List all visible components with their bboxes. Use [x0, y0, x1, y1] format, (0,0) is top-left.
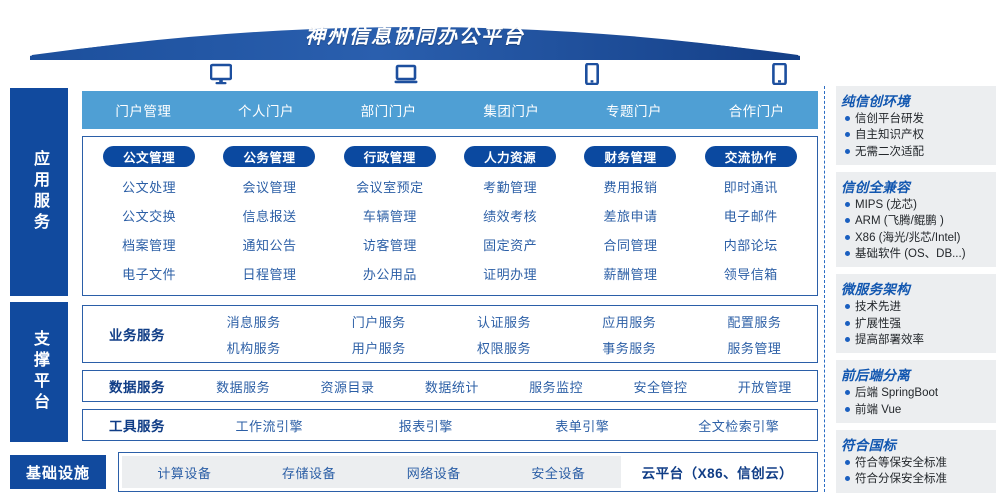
- app-item-0-3[interactable]: 电子文件: [122, 264, 176, 283]
- bullet-icon: [845, 149, 850, 154]
- sidebar-item-0-0: 信创平台研发: [841, 111, 991, 127]
- infra-item-2[interactable]: 网络设备: [371, 456, 496, 488]
- sidebar-item-3-0: 后端 SpringBoot: [841, 385, 991, 401]
- app-item-5-0[interactable]: 即时通讯: [724, 177, 778, 196]
- layer-label-application: 应用服务: [10, 88, 68, 296]
- app-item-2-2[interactable]: 访客管理: [363, 235, 417, 254]
- device-icon-strip: [82, 60, 818, 90]
- app-item-1-3[interactable]: 日程管理: [242, 264, 296, 283]
- sidebar-item-3-1: 前端 Vue: [841, 402, 991, 418]
- business-item-1-2[interactable]: 权限服务: [441, 338, 566, 357]
- portal-item-2[interactable]: 部门门户: [327, 100, 450, 120]
- portal-item-5[interactable]: 合作门户: [695, 100, 818, 120]
- header-banner: 神州信息协同办公平台: [0, 4, 830, 60]
- support-row-label-tool: 工具服务: [83, 415, 191, 435]
- infra-item-3[interactable]: 安全设备: [496, 456, 621, 488]
- data-item-3[interactable]: 服务监控: [504, 377, 608, 396]
- sidebar-section-0: 纯信创环境 信创平台研发 自主知识产权 无需二次适配: [836, 86, 996, 165]
- sidebar-item-1-3: 基础软件 (OS、DB...): [841, 246, 991, 262]
- app-item-3-1[interactable]: 绩效考核: [483, 206, 537, 225]
- bullet-icon: [845, 476, 850, 481]
- data-item-0[interactable]: 数据服务: [191, 377, 295, 396]
- laptop-icon: [394, 63, 418, 90]
- layer-label-support: 支撑平台: [10, 302, 68, 442]
- app-item-3-3[interactable]: 证明办理: [483, 264, 537, 283]
- application-services-panel: 公文管理 公文处理 公文交换 档案管理 电子文件 公务管理 会议管理 信息报送 …: [82, 136, 818, 296]
- business-item-1-3[interactable]: 事务服务: [567, 338, 692, 357]
- business-item-0-4[interactable]: 配置服务: [692, 312, 817, 331]
- layer-label-infrastructure: 基础设施: [10, 455, 106, 489]
- sidebar-item-label: X86 (海光/兆芯/Intel): [855, 230, 960, 246]
- bullet-icon: [845, 407, 850, 412]
- sidebar-item-label: 信创平台研发: [855, 111, 924, 127]
- sidebar-section-title-2: 微服务架构: [841, 278, 991, 298]
- support-row-label-data: 数据服务: [83, 376, 191, 396]
- app-item-2-0[interactable]: 会议室预定: [356, 177, 424, 196]
- tool-item-0[interactable]: 工作流引擎: [191, 416, 348, 435]
- app-item-5-1[interactable]: 电子邮件: [724, 206, 778, 225]
- sidebar-item-label: 扩展性强: [855, 316, 901, 332]
- sidebar-item-1-0: MIPS (龙芯): [841, 197, 991, 213]
- business-item-0-3[interactable]: 应用服务: [567, 312, 692, 331]
- app-item-1-2[interactable]: 通知公告: [242, 235, 296, 254]
- tool-item-3[interactable]: 全文检索引擎: [661, 416, 818, 435]
- app-category-title-5[interactable]: 交流协作: [705, 146, 797, 167]
- infra-item-0[interactable]: 计算设备: [122, 456, 247, 488]
- bullet-icon: [845, 460, 850, 465]
- sidebar-item-label: 提高部署效率: [855, 332, 924, 348]
- bullet-icon: [845, 337, 850, 342]
- app-column-0: 公文管理 公文处理 公文交换 档案管理 电子文件: [89, 146, 209, 289]
- app-category-title-1[interactable]: 公务管理: [223, 146, 315, 167]
- app-item-1-0[interactable]: 会议管理: [242, 177, 296, 196]
- data-service-cells: 数据服务 资源目录 数据统计 服务监控 安全管控 开放管理: [191, 377, 817, 396]
- app-column-2: 行政管理 会议室预定 车辆管理 访客管理 办公用品: [330, 146, 450, 289]
- infra-item-cloud-platform[interactable]: 云平台（X86、信创云）: [621, 456, 814, 488]
- bullet-icon: [845, 321, 850, 326]
- sidebar-item-label: 前端 Vue: [855, 402, 901, 418]
- feature-sidebar: 纯信创环境 信创平台研发 自主知识产权 无需二次适配 信创全兼容 MIPS (龙…: [836, 86, 996, 500]
- app-item-4-1[interactable]: 差旅申请: [603, 206, 657, 225]
- app-item-2-1[interactable]: 车辆管理: [363, 206, 417, 225]
- sidebar-section-title-4: 符合国标: [841, 434, 991, 454]
- app-item-5-3[interactable]: 领导信箱: [724, 264, 778, 283]
- sidebar-section-1: 信创全兼容 MIPS (龙芯) ARM (飞腾/鲲鹏 ) X86 (海光/兆芯/…: [836, 172, 996, 267]
- business-item-1-0[interactable]: 机构服务: [191, 338, 316, 357]
- sidebar-item-label: 后端 SpringBoot: [855, 385, 938, 401]
- app-item-0-2[interactable]: 档案管理: [122, 235, 176, 254]
- sidebar-item-2-2: 提高部署效率: [841, 332, 991, 348]
- business-service-grid: 消息服务 门户服务 认证服务 应用服务 配置服务 机构服务 用户服务 权限服务 …: [191, 312, 817, 357]
- portal-item-0[interactable]: 门户管理: [82, 100, 205, 120]
- tablet-icon: [772, 63, 787, 90]
- business-item-0-2[interactable]: 认证服务: [441, 312, 566, 331]
- page-title: 神州信息协同办公平台: [0, 20, 830, 49]
- business-service-row-2: 机构服务 用户服务 权限服务 事务服务 服务管理: [191, 338, 817, 357]
- app-item-0-1[interactable]: 公文交换: [122, 206, 176, 225]
- desktop-monitor-icon: [210, 63, 232, 90]
- sidebar-item-label: MIPS (龙芯): [855, 197, 917, 213]
- sidebar-section-4: 符合国标 符合等保安全标准 符合分保安全标准: [836, 430, 996, 493]
- app-category-title-0[interactable]: 公文管理: [103, 146, 195, 167]
- app-column-3: 人力资源 考勤管理 绩效考核 固定资产 证明办理: [450, 146, 570, 289]
- sidebar-item-label: 基础软件 (OS、DB...): [855, 246, 966, 262]
- business-item-0-1[interactable]: 门户服务: [316, 312, 441, 331]
- data-item-2[interactable]: 数据统计: [400, 377, 504, 396]
- infra-item-1[interactable]: 存储设备: [247, 456, 372, 488]
- app-column-5: 交流协作 即时通讯 电子邮件 内部论坛 领导信箱: [691, 146, 811, 289]
- sidebar-item-2-0: 技术先进: [841, 299, 991, 315]
- business-item-0-0[interactable]: 消息服务: [191, 312, 316, 331]
- sidebar-item-2-1: 扩展性强: [841, 316, 991, 332]
- app-item-1-1[interactable]: 信息报送: [242, 206, 296, 225]
- portal-item-4[interactable]: 专题门户: [573, 100, 696, 120]
- sidebar-section-2: 微服务架构 技术先进 扩展性强 提高部署效率: [836, 274, 996, 353]
- business-item-1-4[interactable]: 服务管理: [692, 338, 817, 357]
- app-item-3-0[interactable]: 考勤管理: [483, 177, 537, 196]
- data-item-5[interactable]: 开放管理: [713, 377, 817, 396]
- business-service-row-1: 消息服务 门户服务 认证服务 应用服务 配置服务: [191, 312, 817, 331]
- bullet-icon: [845, 304, 850, 309]
- bullet-icon: [845, 251, 850, 256]
- infrastructure-panel: 计算设备 存储设备 网络设备 安全设备 云平台（X86、信创云）: [118, 452, 818, 492]
- data-item-4[interactable]: 安全管控: [608, 377, 712, 396]
- app-column-1: 公务管理 会议管理 信息报送 通知公告 日程管理: [209, 146, 329, 289]
- smartphone-icon: [585, 63, 599, 90]
- tool-item-2[interactable]: 表单引擎: [504, 416, 661, 435]
- bullet-icon: [845, 235, 850, 240]
- bullet-icon: [845, 202, 850, 207]
- app-item-2-3[interactable]: 办公用品: [363, 264, 417, 283]
- sidebar-item-label: 无需二次适配: [855, 144, 924, 160]
- app-item-3-2[interactable]: 固定资产: [483, 235, 537, 254]
- support-row-tool: 工具服务 工作流引擎 报表引擎 表单引擎 全文检索引擎: [82, 409, 818, 441]
- support-row-business: 业务服务 消息服务 门户服务 认证服务 应用服务 配置服务 机构服务 用户服务 …: [82, 305, 818, 363]
- tool-service-cells: 工作流引擎 报表引擎 表单引擎 全文检索引擎: [191, 416, 817, 435]
- business-item-1-1[interactable]: 用户服务: [316, 338, 441, 357]
- sidebar-section-title-1: 信创全兼容: [841, 176, 991, 196]
- portal-item-3[interactable]: 集团门户: [450, 100, 573, 120]
- app-category-title-3[interactable]: 人力资源: [464, 146, 556, 167]
- support-row-label-business: 业务服务: [83, 324, 191, 344]
- sidebar-item-0-1: 自主知识产权: [841, 127, 991, 143]
- sidebar-item-4-0: 符合等保安全标准: [841, 455, 991, 471]
- sidebar-item-1-2: X86 (海光/兆芯/Intel): [841, 230, 991, 246]
- tool-item-1[interactable]: 报表引擎: [348, 416, 505, 435]
- sidebar-item-0-2: 无需二次适配: [841, 144, 991, 160]
- bullet-icon: [845, 218, 850, 223]
- app-item-5-2[interactable]: 内部论坛: [724, 235, 778, 254]
- app-item-4-0[interactable]: 费用报销: [603, 177, 657, 196]
- sidebar-item-label: 符合分保安全标准: [855, 471, 947, 487]
- app-column-4: 财务管理 费用报销 差旅申请 合同管理 薪酬管理: [570, 146, 690, 289]
- bullet-icon: [845, 116, 850, 121]
- sidebar-section-title-3: 前后端分离: [841, 364, 991, 384]
- sidebar-section-title-0: 纯信创环境: [841, 90, 991, 110]
- sidebar-item-4-1: 符合分保安全标准: [841, 471, 991, 487]
- sidebar-section-3: 前后端分离 后端 SpringBoot 前端 Vue: [836, 360, 996, 423]
- sidebar-item-label: 符合等保安全标准: [855, 455, 947, 471]
- bullet-icon: [845, 132, 850, 137]
- app-item-0-0[interactable]: 公文处理: [122, 177, 176, 196]
- bullet-icon: [845, 390, 850, 395]
- sidebar-item-label: 技术先进: [855, 299, 901, 315]
- support-row-data: 数据服务 数据服务 资源目录 数据统计 服务监控 安全管控 开放管理: [82, 370, 818, 402]
- app-item-4-2[interactable]: 合同管理: [603, 235, 657, 254]
- app-item-4-3[interactable]: 薪酬管理: [603, 264, 657, 283]
- app-category-title-2[interactable]: 行政管理: [344, 146, 436, 167]
- portal-item-1[interactable]: 个人门户: [205, 100, 328, 120]
- app-category-title-4[interactable]: 财务管理: [584, 146, 676, 167]
- portal-bar: 门户管理 个人门户 部门门户 集团门户 专题门户 合作门户: [82, 91, 818, 129]
- sidebar-item-label: 自主知识产权: [855, 127, 924, 143]
- section-divider: [824, 86, 825, 492]
- sidebar-item-1-1: ARM (飞腾/鲲鹏 ): [841, 213, 991, 229]
- data-item-1[interactable]: 资源目录: [295, 377, 399, 396]
- sidebar-item-label: ARM (飞腾/鲲鹏 ): [855, 213, 944, 229]
